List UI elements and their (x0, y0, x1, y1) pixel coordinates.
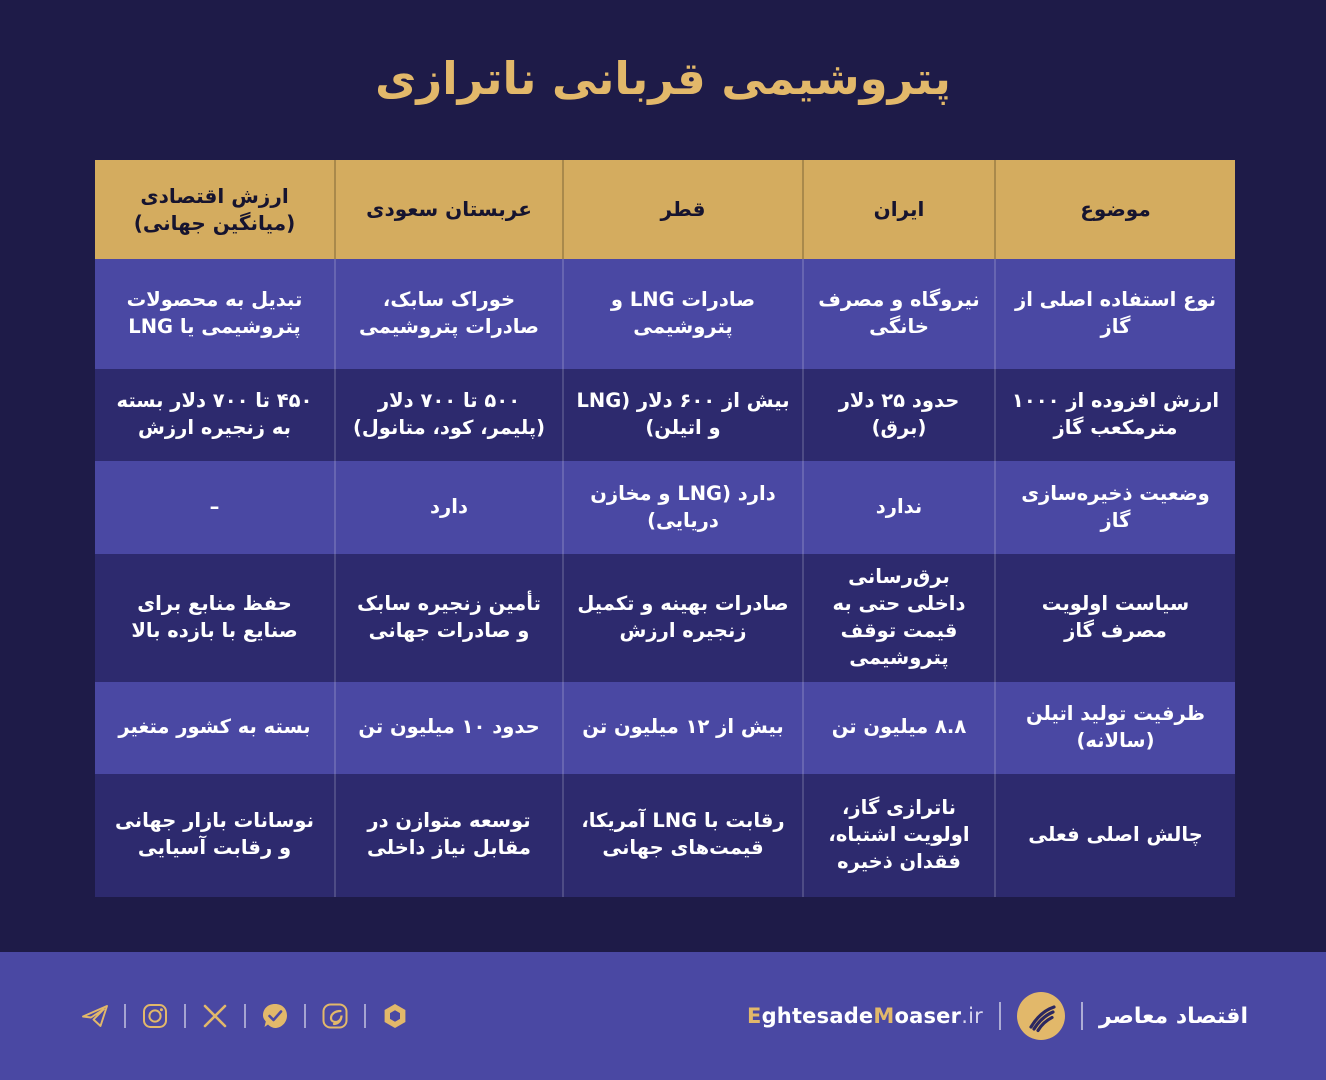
table-row: چالش اصلی فعلی ناترازی گاز، اولویت اشتبا… (95, 774, 1235, 897)
cell-saudi: تأمین زنجیره سابک و صادرات جهانی (335, 554, 563, 682)
table-header-row: موضوع ایران قطر عربستان سعودی ارزش اقتصا… (95, 160, 1235, 259)
telegram-icon[interactable] (78, 999, 112, 1033)
cell-qatar: دارد (LNG و مخازن دریایی) (563, 461, 803, 554)
cell-economic-value: – (95, 461, 335, 554)
rubika-icon[interactable] (378, 999, 412, 1033)
brand-en-e: E (747, 1004, 762, 1028)
eitaa-icon[interactable] (318, 999, 352, 1033)
cell-saudi: توسعه متوازن در مقابل نیاز داخلی (335, 774, 563, 897)
instagram-icon[interactable] (138, 999, 172, 1033)
table-row: نوع استفاده اصلی از گاز نیروگاه و مصرف خ… (95, 259, 1235, 369)
cell-iran: حدود ۲۵ دلار (برق) (803, 369, 995, 461)
table-row: ظرفیت تولید اتیلن (سالانه) ۸.۸ میلیون تن… (95, 682, 1235, 774)
brand-en-ghtesade: ghtesade (762, 1004, 874, 1028)
table-row: ارزش افزوده از ۱۰۰۰ مترمکعب گاز حدود ۲۵ … (95, 369, 1235, 461)
brand-name-fa: اقتصاد معاصر (1099, 1004, 1248, 1029)
cell-subject: ظرفیت تولید اتیلن (سالانه) (995, 682, 1235, 774)
cell-iran: ناترازی گاز، اولویت اشتباه، فقدان ذخیره (803, 774, 995, 897)
social-divider (184, 1004, 186, 1028)
social-divider (244, 1004, 246, 1028)
column-header-subject: موضوع (995, 160, 1235, 259)
column-header-economic-value: ارزش اقتصادی (میانگین جهانی) (95, 160, 335, 259)
cell-qatar: بیش از ۱۲ میلیون تن (563, 682, 803, 774)
column-header-iran: ایران (803, 160, 995, 259)
cell-economic-value: ۴۵۰ تا ۷۰۰ دلار بسته به زنجیره ارزش (95, 369, 335, 461)
brand-divider (1081, 1002, 1083, 1030)
infographic-page: پتروشیمی قربانی ناترازی موضوع ایران قطر … (0, 0, 1326, 1080)
social-divider (124, 1004, 126, 1028)
column-header-qatar: قطر (563, 160, 803, 259)
cell-saudi: ۵۰۰ تا ۷۰۰ دلار (پلیمر، کود، متانول) (335, 369, 563, 461)
comparison-table-container: موضوع ایران قطر عربستان سعودی ارزش اقتصا… (95, 160, 1235, 897)
cell-iran: ندارد (803, 461, 995, 554)
table-body: نوع استفاده اصلی از گاز نیروگاه و مصرف خ… (95, 259, 1235, 897)
cell-subject: سیاست اولویت مصرف گاز (995, 554, 1235, 682)
x-twitter-icon[interactable] (198, 999, 232, 1033)
column-header-saudi: عربستان سعودی (335, 160, 563, 259)
cell-subject: وضعیت ذخیره‌سازی گاز (995, 461, 1235, 554)
cell-economic-value: حفظ منابع برای صنایع با بازده بالا (95, 554, 335, 682)
comparison-table: موضوع ایران قطر عربستان سعودی ارزش اقتصا… (95, 160, 1235, 897)
cell-subject: نوع استفاده اصلی از گاز (995, 259, 1235, 369)
brand-en-tld: .ir (961, 1004, 983, 1028)
cell-saudi: خوراک سابک، صادرات پتروشیمی (335, 259, 563, 369)
cell-qatar: صادرات بهینه و تکمیل زنجیره ارزش (563, 554, 803, 682)
globe-swoosh-logo-icon (1017, 992, 1065, 1040)
brand-en-m: M (873, 1004, 894, 1028)
cell-economic-value: نوسانات بازار جهانی و رقابت آسیایی (95, 774, 335, 897)
social-divider (364, 1004, 366, 1028)
table-row: سیاست اولویت مصرف گاز برق‌رسانی داخلی حت… (95, 554, 1235, 682)
cell-economic-value: تبدیل به محصولات پتروشیمی یا LNG (95, 259, 335, 369)
brand-en-oaser: oaser (894, 1004, 961, 1028)
cell-subject: ارزش افزوده از ۱۰۰۰ مترمکعب گاز (995, 369, 1235, 461)
cell-subject: چالش اصلی فعلی (995, 774, 1235, 897)
page-title: پتروشیمی قربانی ناترازی (0, 52, 1326, 105)
social-links (78, 999, 412, 1033)
table-row: وضعیت ذخیره‌سازی گاز ندارد دارد (LNG و م… (95, 461, 1235, 554)
cell-economic-value: بسته به کشور متغیر (95, 682, 335, 774)
brand-name-en: EghtesadeMoaser.ir (747, 1004, 983, 1028)
cell-iran: برق‌رسانی داخلی حتی به قیمت توقف پتروشیم… (803, 554, 995, 682)
cell-qatar: صادرات LNG و پتروشیمی (563, 259, 803, 369)
social-divider (304, 1004, 306, 1028)
cell-qatar: بیش از ۶۰۰ دلار (LNG و اتیلن) (563, 369, 803, 461)
cell-saudi: دارد (335, 461, 563, 554)
brand-divider (999, 1002, 1001, 1030)
bale-icon[interactable] (258, 999, 292, 1033)
cell-qatar: رقابت با LNG آمریکا، قیمت‌های جهانی (563, 774, 803, 897)
brand-block: اقتصاد معاصر EghtesadeMoaser.ir (747, 992, 1248, 1040)
table-header: موضوع ایران قطر عربستان سعودی ارزش اقتصا… (95, 160, 1235, 259)
cell-iran: ۸.۸ میلیون تن (803, 682, 995, 774)
cell-saudi: حدود ۱۰ میلیون تن (335, 682, 563, 774)
cell-iran: نیروگاه و مصرف خانگی (803, 259, 995, 369)
footer-bar: اقتصاد معاصر EghtesadeMoaser.ir (0, 952, 1326, 1080)
